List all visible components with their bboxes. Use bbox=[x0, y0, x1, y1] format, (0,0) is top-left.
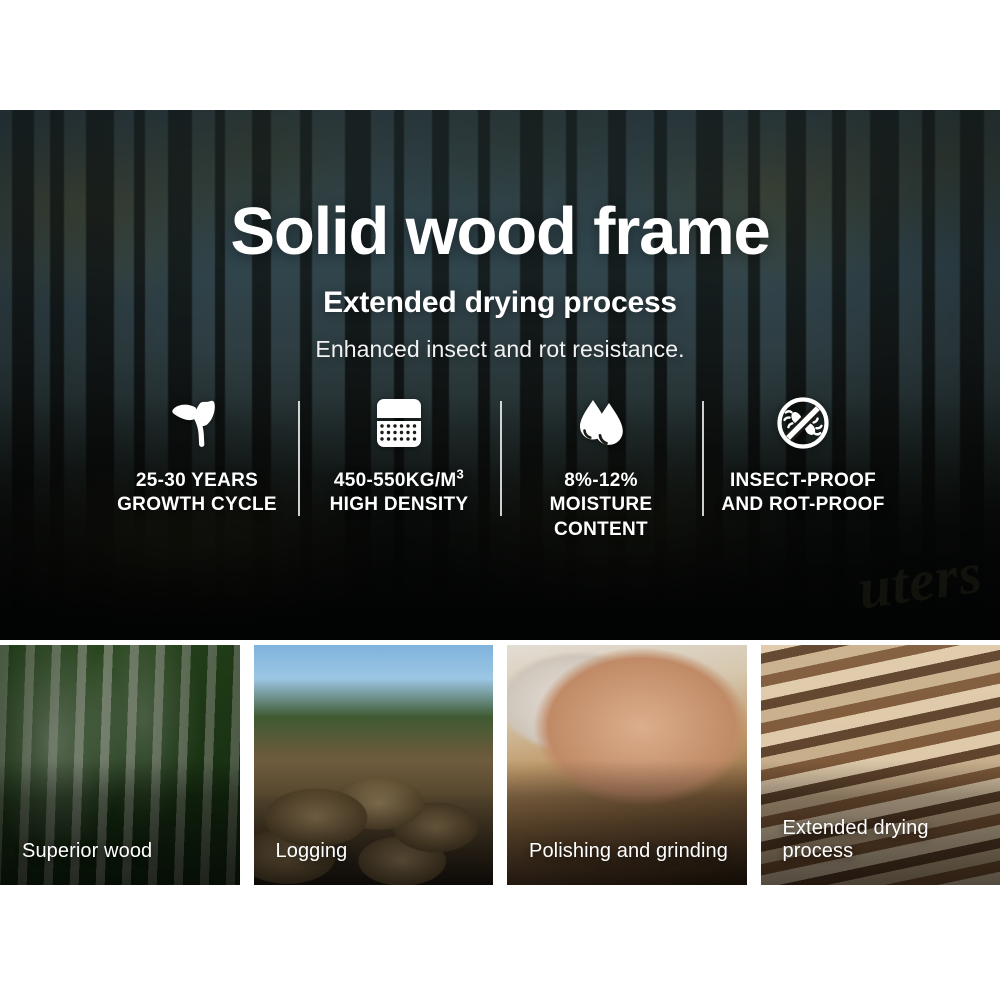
banner-page: uters Solid wood frame Extended drying p… bbox=[0, 0, 1000, 1000]
caption-gradient bbox=[254, 760, 494, 885]
gallery-caption: Logging bbox=[276, 840, 484, 863]
page-title: Solid wood frame bbox=[0, 198, 1000, 265]
feature-line-2: AND ROT-PROOF bbox=[721, 493, 884, 517]
feature-list: 25-30 YEARS GROWTH CYCLE bbox=[96, 395, 904, 530]
density-block-icon bbox=[371, 395, 427, 451]
hero-subtitle: Extended drying process bbox=[0, 286, 1000, 320]
gallery-card-polishing-grinding[interactable]: Polishing and grinding bbox=[507, 645, 747, 885]
feature-label: 450-550KG/M3 HIGH DENSITY bbox=[330, 469, 469, 518]
feature-line-2: MOISTURE CONTENT bbox=[500, 493, 702, 542]
feature-line-1: 450-550KG/M bbox=[334, 470, 457, 491]
feature-line-2: HIGH DENSITY bbox=[330, 493, 469, 517]
gallery-strip: Superior wood Logging Polishing and grin… bbox=[0, 645, 1000, 885]
feature-growth-cycle: 25-30 YEARS GROWTH CYCLE bbox=[96, 395, 298, 518]
caption-gradient bbox=[507, 760, 747, 885]
gallery-caption: Superior wood bbox=[22, 840, 230, 863]
hero-tagline: Enhanced insect and rot resistance. bbox=[0, 336, 1000, 363]
gallery-card-superior-wood[interactable]: Superior wood bbox=[0, 645, 240, 885]
leaf-sprout-icon bbox=[170, 395, 224, 451]
feature-line-1: INSECT-PROOF bbox=[730, 470, 876, 491]
no-insect-icon bbox=[776, 395, 830, 451]
feature-label: INSECT-PROOF AND ROT-PROOF bbox=[721, 469, 884, 518]
feature-line-1-superscript: 3 bbox=[457, 467, 465, 482]
hero-section: uters Solid wood frame Extended drying p… bbox=[0, 110, 1000, 640]
feature-line-2: GROWTH CYCLE bbox=[117, 493, 277, 517]
hero-content: Solid wood frame Extended drying process… bbox=[0, 110, 1000, 640]
feature-high-density: 450-550KG/M3 HIGH DENSITY bbox=[298, 395, 500, 518]
feature-line-1: 8%-12% bbox=[564, 470, 638, 491]
gallery-caption: Polishing and grinding bbox=[529, 840, 737, 863]
caption-gradient bbox=[0, 760, 240, 885]
feature-label: 8%-12% MOISTURE CONTENT bbox=[500, 469, 702, 542]
water-droplets-icon bbox=[572, 395, 630, 451]
gallery-caption: Extended drying process bbox=[783, 817, 991, 863]
feature-label: 25-30 YEARS GROWTH CYCLE bbox=[117, 469, 277, 518]
gallery-card-extended-drying[interactable]: Extended drying process bbox=[761, 645, 1000, 885]
feature-line-1: 25-30 YEARS bbox=[136, 470, 258, 491]
feature-insect-rot-proof: INSECT-PROOF AND ROT-PROOF bbox=[702, 395, 904, 518]
gallery-card-logging[interactable]: Logging bbox=[254, 645, 494, 885]
feature-moisture-content: 8%-12% MOISTURE CONTENT bbox=[500, 395, 702, 542]
